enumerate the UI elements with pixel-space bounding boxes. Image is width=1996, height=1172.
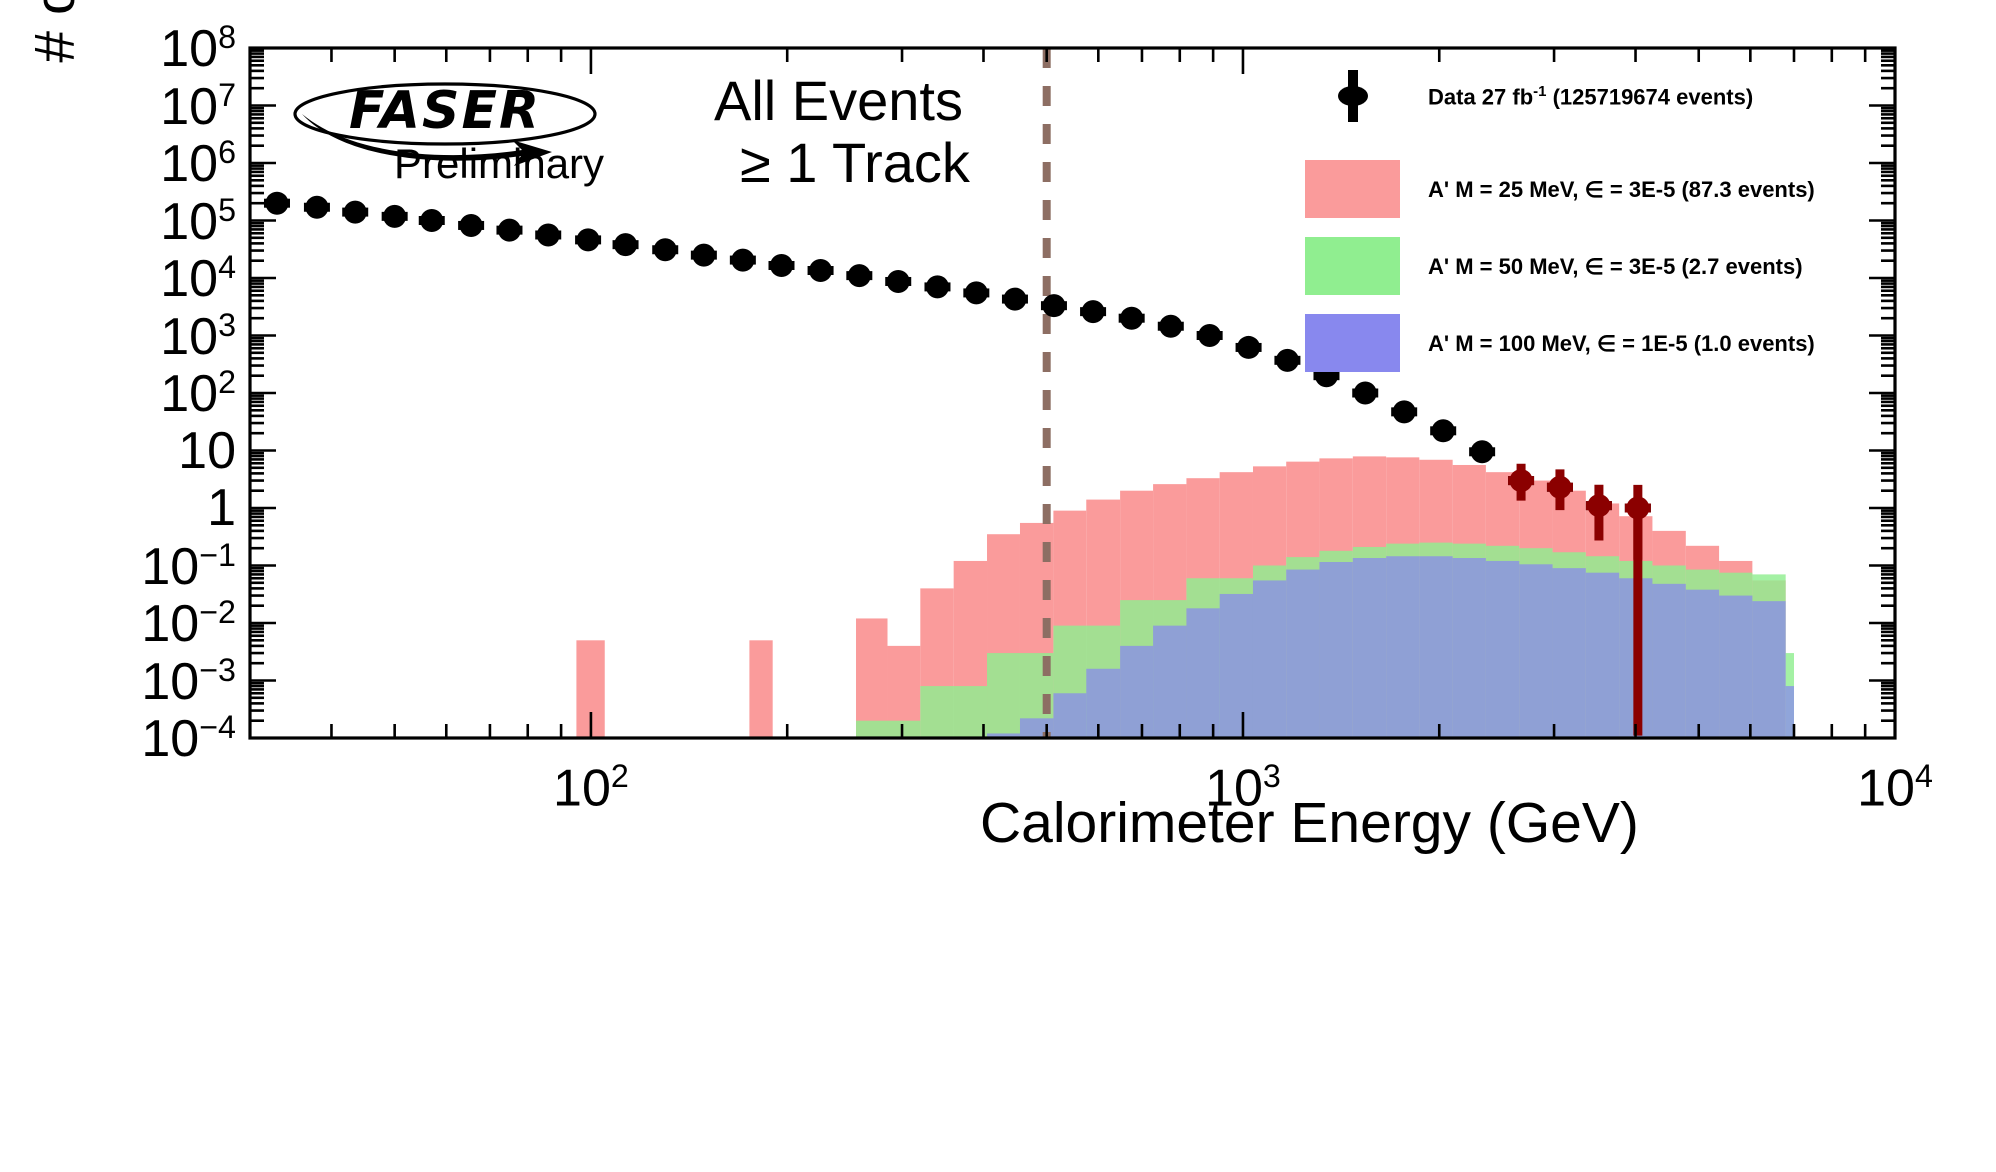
data-point-bar <box>1041 301 1067 310</box>
legend-swatch <box>1305 160 1400 218</box>
data-point-bar <box>1236 343 1262 352</box>
data-point-bar <box>846 271 872 280</box>
histogram-bin <box>1652 584 1685 738</box>
data-point-bar <box>1508 476 1534 485</box>
plot-area <box>0 0 1996 1172</box>
data-point-bar <box>1469 447 1495 456</box>
data-point-bar <box>924 282 950 291</box>
data-point-bar <box>382 212 408 221</box>
histogram-bin <box>1153 626 1186 738</box>
histogram-bin <box>749 640 772 738</box>
histogram-bin <box>1486 561 1519 738</box>
legend-marker-data-dot <box>1338 86 1368 106</box>
data-point-bar <box>1586 501 1612 510</box>
legend-label: A' M = 25 MeV, ∈ = 3E-5 (87.3 events) <box>1428 177 1815 203</box>
data-point-bar <box>304 203 330 212</box>
histogram-bin <box>1286 570 1319 738</box>
histogram-group <box>576 456 1794 738</box>
histogram-bin <box>1553 568 1586 738</box>
data-point-bar <box>691 251 717 260</box>
data-point-bar <box>535 230 561 239</box>
data-point-bar <box>458 221 484 230</box>
histogram-bin <box>1319 562 1352 738</box>
data-point-bar <box>1391 407 1417 416</box>
data-point-bar <box>768 261 794 270</box>
data-point-bar <box>885 277 911 286</box>
histogram-bin <box>1752 601 1785 738</box>
data-point-bar <box>1313 371 1339 380</box>
data-point-bar <box>1274 356 1300 365</box>
preliminary-label: Preliminary <box>394 140 604 188</box>
data-point-bar <box>496 226 522 235</box>
histogram-bin <box>1519 564 1552 738</box>
data-point-bar <box>342 208 368 217</box>
histogram-bin <box>1586 573 1619 738</box>
data-point-bar <box>613 240 639 249</box>
histogram-bin <box>1220 594 1253 738</box>
data-point-bar <box>1547 483 1573 492</box>
histogram-bin <box>1719 596 1752 738</box>
data-point-bar <box>419 216 445 225</box>
data-point-bar <box>1158 322 1184 331</box>
histogram-bin <box>1120 646 1153 738</box>
data-point-bar <box>1080 307 1106 316</box>
histogram-bin <box>1353 558 1386 738</box>
faser-logo-wordmark: FASER <box>349 81 541 141</box>
histogram-bin <box>1386 556 1419 738</box>
data-point-bar <box>963 288 989 297</box>
annotation-track-cut: ≥ 1 Track <box>740 130 970 195</box>
histogram-bin <box>1253 580 1286 738</box>
legend-label: A' M = 50 MeV, ∈ = 3E-5 (2.7 events) <box>1428 254 1803 280</box>
data-point-bar <box>652 245 678 254</box>
legend-label: Data 27 fb-1 (125719674 events) <box>1428 83 1753 110</box>
legend-label: A' M = 100 MeV, ∈ = 1E-5 (1.0 events) <box>1428 331 1815 357</box>
histogram-bin <box>1053 693 1086 738</box>
histogram-bin <box>856 618 887 738</box>
histogram-bin <box>920 686 987 738</box>
histogram-bin <box>856 721 920 738</box>
data-point-bar <box>1352 389 1378 398</box>
histogram-bin <box>1419 556 1452 738</box>
legend-swatch <box>1305 237 1400 295</box>
data-point-bar <box>1119 314 1145 323</box>
histogram-bin <box>1686 590 1719 738</box>
histogram-bin <box>1453 558 1486 738</box>
data-point-bar <box>1197 331 1223 340</box>
legend-swatch <box>1305 314 1400 372</box>
histogram-bin <box>1186 608 1219 738</box>
data-point-bar <box>1002 295 1028 304</box>
data-point-bar <box>730 256 756 265</box>
data-point-bar <box>264 199 290 208</box>
data-point-bar <box>808 266 834 275</box>
data-point-bar <box>1430 426 1456 435</box>
histogram-bin <box>1086 669 1120 738</box>
data-point-bar <box>575 235 601 244</box>
chart-canvas: # of Events 10810710610510410310210110−1… <box>0 0 1996 1172</box>
annotation-all-events: All Events <box>714 68 963 133</box>
